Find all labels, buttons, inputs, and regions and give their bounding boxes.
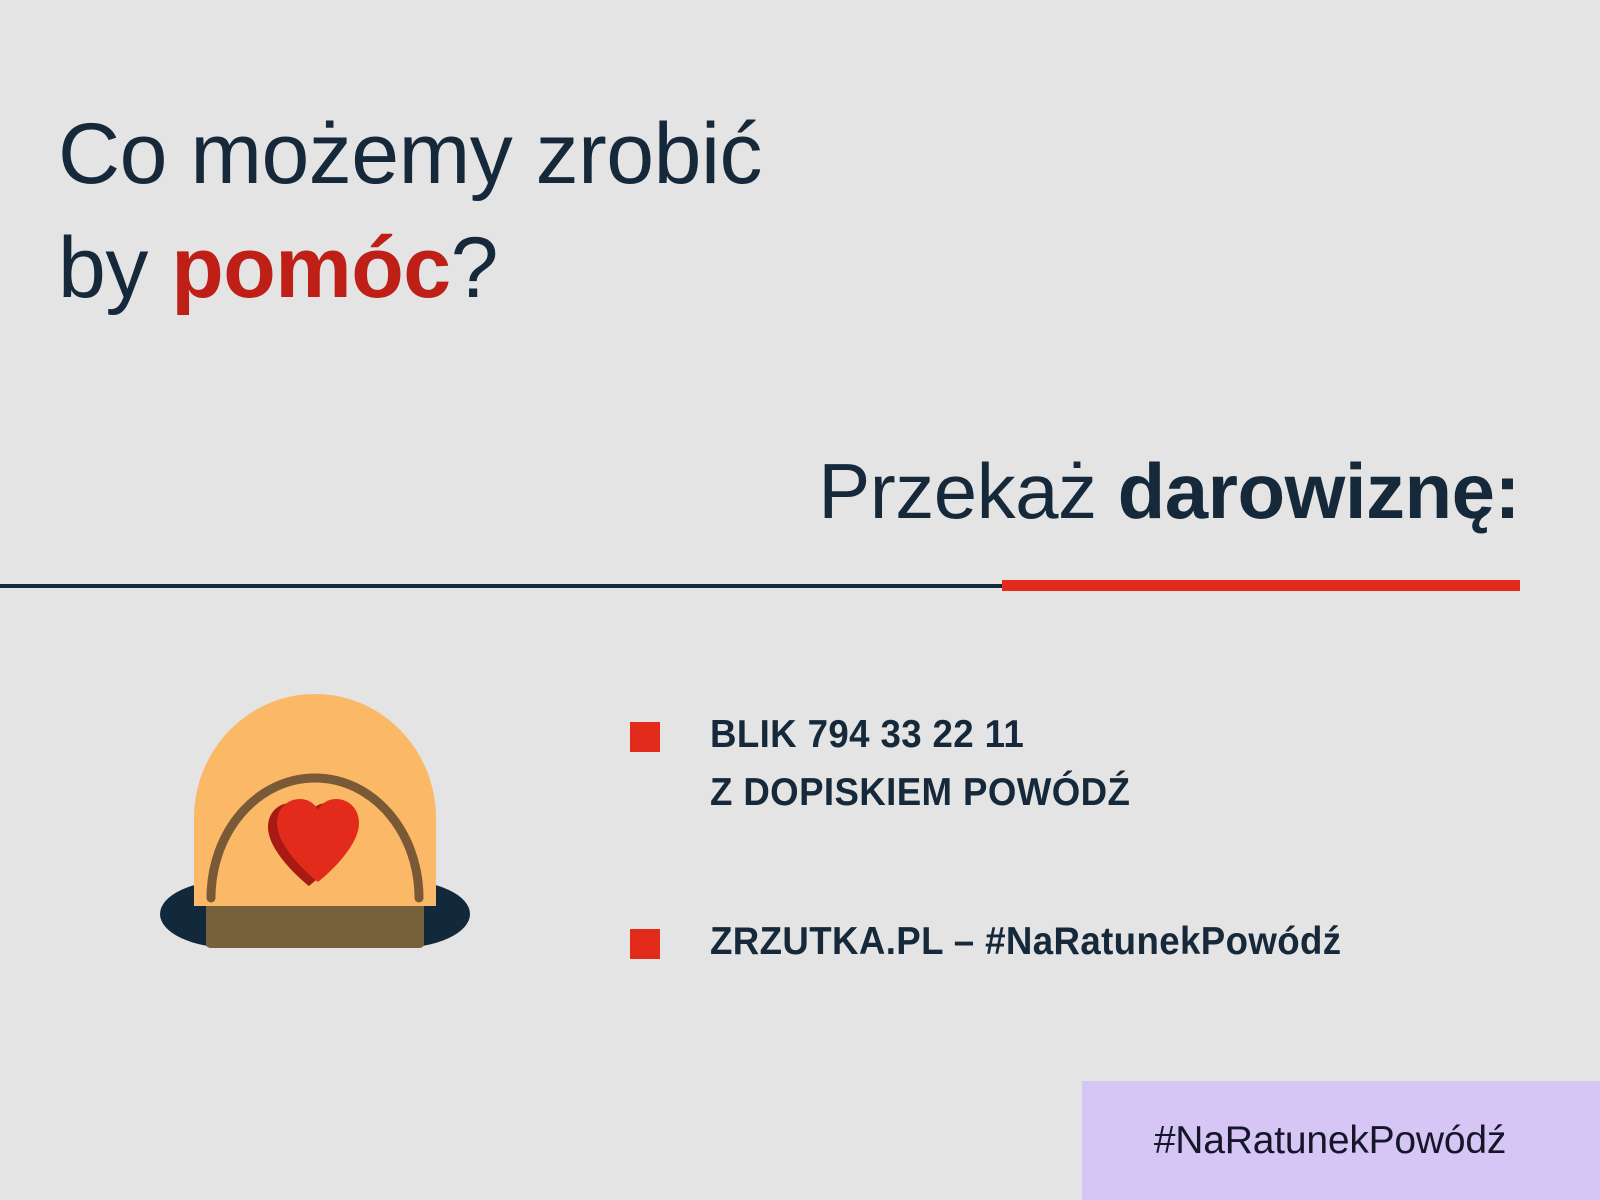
donation-basket-heart-icon <box>160 686 470 948</box>
headline-line-1: Co możemy zrobić <box>58 98 1058 212</box>
red-square-bullet-icon <box>630 929 660 959</box>
donation-method-text: ZRZUTKA.PL – #NaRatunekPowódź <box>710 913 1341 971</box>
donation-methods-list: BLIK 794 33 22 11 Z DOPISKIEM POWÓDŹ ZRZ… <box>630 706 1510 971</box>
list-item: BLIK 794 33 22 11 Z DOPISKIEM POWÓDŹ <box>630 706 1510 821</box>
subheading-strong-part: darowiznę: <box>1118 447 1520 535</box>
red-square-bullet-icon <box>630 722 660 752</box>
donation-method-line: BLIK 794 33 22 11 <box>710 706 1130 764</box>
subheading-donate: Przekaż darowiznę: <box>818 448 1520 535</box>
donation-method-text: BLIK 794 33 22 11 Z DOPISKIEM POWÓDŹ <box>710 706 1130 821</box>
divider-dark <box>0 584 1024 588</box>
donation-method-line: ZRZUTKA.PL – #NaRatunekPowódź <box>710 913 1341 971</box>
subheading-regular-part: Przekaż <box>818 447 1117 535</box>
headline-line-2-suffix: ? <box>451 220 498 316</box>
hashtag-badge: #NaRatunekPowódź <box>1082 1081 1600 1200</box>
donation-method-line: Z DOPISKIEM POWÓDŹ <box>710 764 1130 822</box>
donation-appeal-slide: Co możemy zrobić by pomóc? Przekaż darow… <box>0 0 1600 1200</box>
divider-red <box>1002 580 1520 591</box>
headline-line-2: by pomóc? <box>58 212 1058 326</box>
headline-accent-word: pomóc <box>171 220 450 316</box>
headline-line-2-prefix: by <box>58 220 171 316</box>
basket-base <box>206 904 424 948</box>
hashtag-badge-label: #NaRatunekPowódź <box>1154 1119 1528 1163</box>
page-title: Co możemy zrobić by pomóc? <box>58 98 1058 325</box>
list-item: ZRZUTKA.PL – #NaRatunekPowódź <box>630 913 1510 971</box>
